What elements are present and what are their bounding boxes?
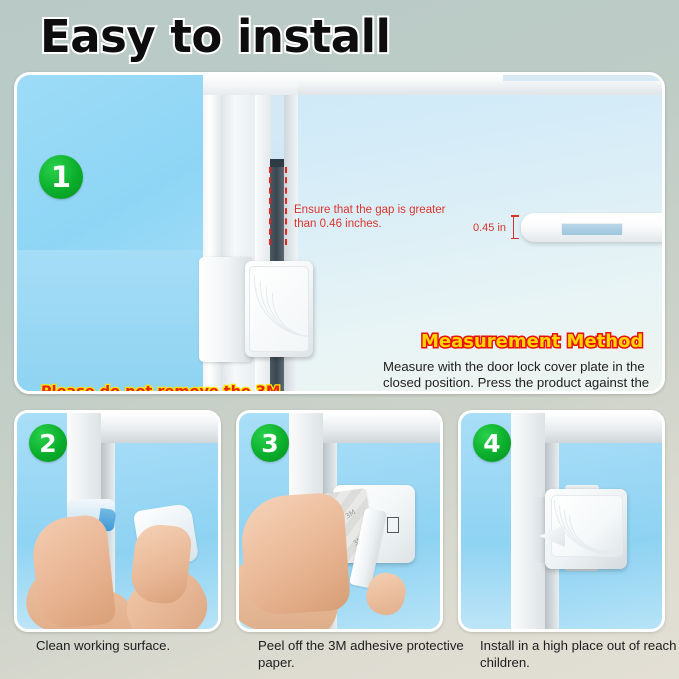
gap-marker-left-dashed-line [269, 167, 271, 245]
installed-lock-cover-plate [551, 495, 623, 557]
door-lock-side-view [521, 213, 665, 242]
panel-step-2: 2 [14, 410, 221, 632]
door-lock-device [245, 261, 313, 357]
panel-step-1: Ensure that the gap is greater than 0.46… [14, 72, 665, 394]
gap-marker-right-dashed-line [285, 167, 287, 245]
measurement-method-body: Measure with the door lock cover plate i… [383, 359, 665, 394]
hand-holding-spray-bottle [29, 513, 116, 630]
lock-swoosh-line-4 [569, 515, 617, 551]
step2-door-rail [101, 413, 218, 443]
step-3-caption: Peel off the 3M adhesive protective pape… [258, 638, 473, 671]
warning-text: Please do not remove the 3M adhesive pro… [41, 383, 341, 394]
step-2-caption: Clean working surface. [36, 638, 251, 655]
step-badge-3: 3 [251, 424, 289, 462]
door-lock-slot [387, 517, 399, 533]
panel-step-3: 3M 3M 3M 3M 3M 3 [236, 410, 443, 632]
measurement-method-title: Measurement Method [421, 331, 643, 352]
step-badge-2: 2 [29, 424, 67, 462]
door-lock-side-panel [561, 223, 623, 236]
thickness-measure-bar [513, 215, 514, 239]
page-title: Easy to install [40, 8, 390, 66]
hand-wiping-glass [129, 522, 193, 605]
step3-door-rail [323, 413, 440, 443]
lock-swoosh-line-4 [272, 293, 309, 337]
door-lock-cover-plate [249, 266, 309, 352]
step-badge-1: 1 [39, 155, 83, 199]
step-badge-4: 4 [473, 424, 511, 462]
door-lock-mount-plate [199, 257, 251, 362]
door-rail-upper [298, 81, 665, 95]
gap-callout-text: Ensure that the gap is greater than 0.46… [294, 203, 464, 231]
thickness-label: 0.45 in [473, 222, 506, 234]
adhesive-brand-mark: 3M [344, 508, 357, 520]
panel-step-4: 4 [458, 410, 665, 632]
left-glass-pane-lower [17, 250, 207, 394]
step4-door-rail [545, 413, 662, 443]
door-gap-top [270, 159, 284, 167]
step-4-caption: Install in a high place out of reach of … [480, 638, 679, 671]
hand-peeling-adhesive [239, 492, 351, 617]
